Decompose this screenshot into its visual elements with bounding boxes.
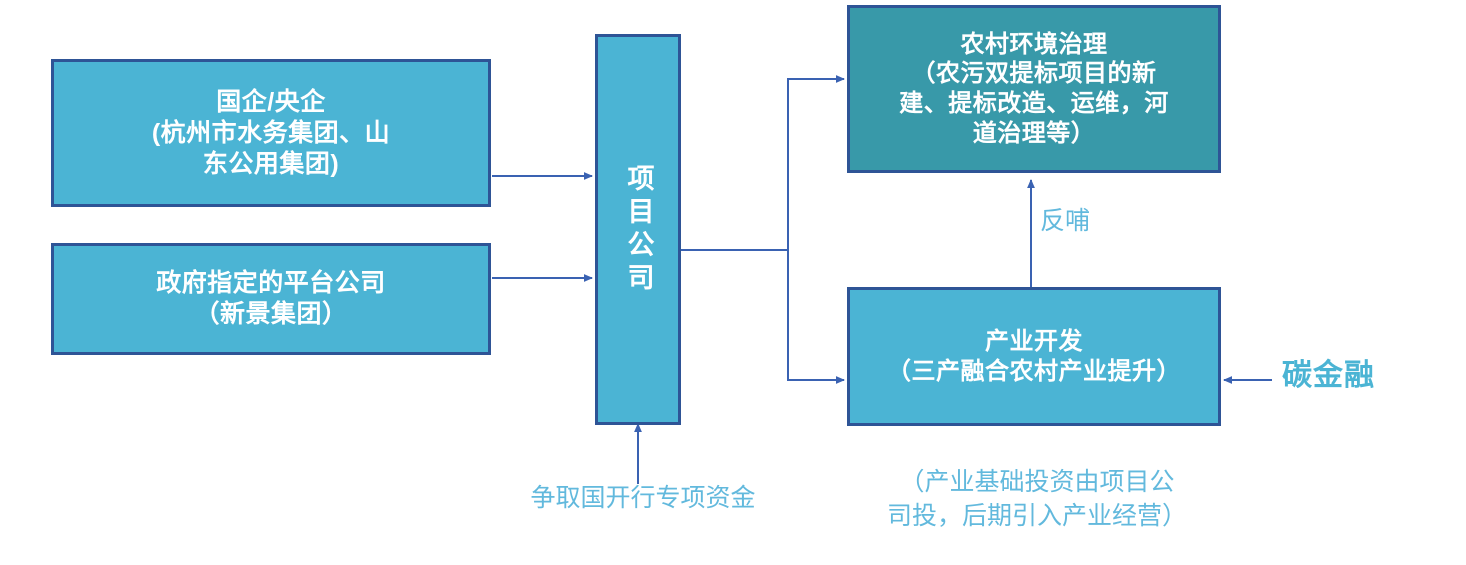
feedback-label: 反哺	[1040, 205, 1150, 239]
arrow-project-company-to-industry-dev	[788, 250, 844, 380]
carbon-finance-label: 碳金融	[1282, 358, 1375, 394]
diagram-canvas: 国企/央企 (杭州市水务集团、山 东公用集团) 政府指定的平台公司 （新景集团）…	[0, 0, 1466, 565]
arrow-project-company-to-rural-env	[681, 79, 844, 250]
cdb-special-funds-label: 争取国开行专项资金	[498, 482, 788, 516]
state-owned-enterprise-box[interactable]: 国企/央企 (杭州市水务集团、山 东公用集团)	[51, 59, 491, 207]
government-platform-company-box[interactable]: 政府指定的平台公司 （新景集团）	[51, 243, 491, 355]
industry-investment-note-label: （产业基础投资由项目公 司投，后期引入产业经营）	[862, 466, 1212, 534]
project-company-box[interactable]: 项目公司	[595, 34, 681, 425]
rural-environment-governance-box[interactable]: 农村环境治理 （农污双提标项目的新 建、提标改造、运维，河 道治理等）	[847, 5, 1221, 173]
industry-development-box[interactable]: 产业开发 （三产融合农村产业提升）	[847, 287, 1221, 426]
